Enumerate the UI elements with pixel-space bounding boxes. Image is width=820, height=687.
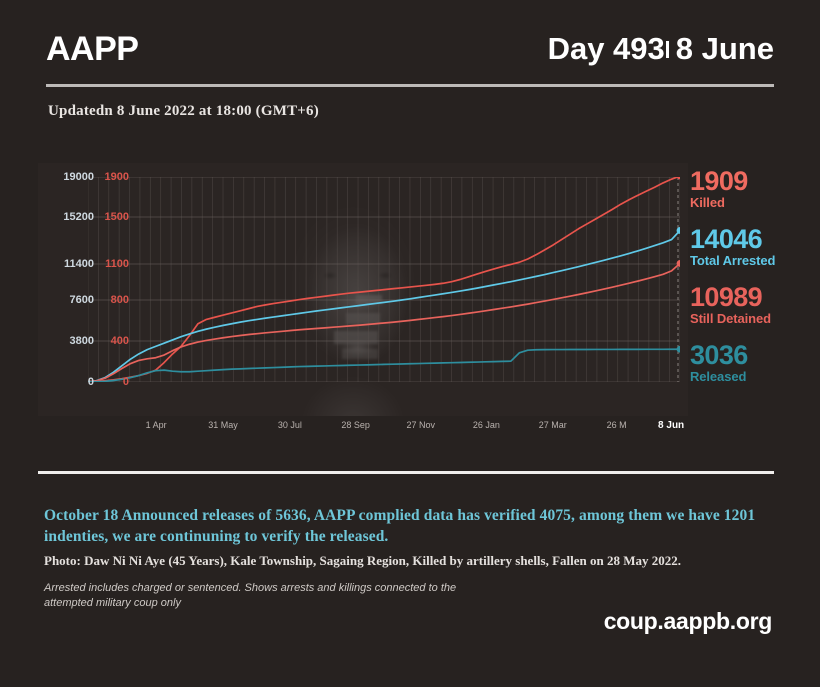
- callout-value-detained: 10989: [690, 284, 771, 311]
- y-tick-killed: 0: [95, 377, 129, 388]
- y-tick-killed: 1900: [95, 172, 129, 183]
- callout-label-killed: Killed: [690, 195, 748, 210]
- callout-label-released: Released: [690, 369, 748, 384]
- y-tick-arrested: 19000: [38, 172, 94, 183]
- header: AAPP Day 4938 June: [46, 28, 774, 90]
- x-tick-label: 26 Jan: [456, 420, 516, 430]
- x-tick-label: 1 Apr: [126, 420, 186, 430]
- callout-value-released: 3036: [690, 342, 748, 369]
- callout-label-arrested: Total Arrested: [690, 253, 775, 268]
- x-tick-label: 8 Jun: [641, 420, 701, 431]
- y-tick-killed: 1500: [95, 212, 129, 223]
- x-tick-label: 28 Sep: [326, 420, 386, 430]
- footer-divider: [38, 471, 774, 474]
- day-date-label: Day 4938 June: [548, 28, 774, 70]
- y-tick-arrested: 11400: [38, 259, 94, 270]
- x-tick-label: 27 Nov: [391, 420, 451, 430]
- callout-value-arrested: 14046: [690, 226, 775, 253]
- photo-credit: Photo: Daw Ni Ni Aye (45 Years), Kale To…: [44, 552, 784, 569]
- day-count-label: Day 493: [548, 31, 665, 66]
- y-tick-arrested: 0: [38, 377, 94, 388]
- x-tick-label: 27 Mar: [523, 420, 583, 430]
- separator-bar: [666, 41, 669, 58]
- callout-value-killed: 1909: [690, 168, 748, 195]
- date-label: 8 June: [676, 31, 774, 66]
- y-tick-arrested: 15200: [38, 212, 94, 223]
- x-tick-label: 26 M: [587, 420, 647, 430]
- y-tick-killed: 400: [95, 336, 129, 347]
- chart-panel: [38, 163, 688, 416]
- y-tick-killed: 1100: [95, 259, 129, 270]
- website-url[interactable]: coup.aappb.org: [604, 608, 772, 635]
- release-note: October 18 Announced releases of 5636, A…: [44, 505, 776, 547]
- y-tick-arrested: 3800: [38, 336, 94, 347]
- methodology-note: Arrested includes charged or sentenced. …: [44, 581, 474, 611]
- chart-svg: [88, 177, 680, 382]
- callout-arrested: 14046Total Arrested: [690, 226, 775, 268]
- callout-label-detained: Still Detained: [690, 311, 771, 326]
- x-tick-label: 31 May: [193, 420, 253, 430]
- page-title: AAPP: [46, 28, 138, 70]
- callout-released: 3036Released: [690, 342, 748, 384]
- callout-killed: 1909Killed: [690, 168, 748, 210]
- poster-root: AAPP Day 4938 June Updatedn 8 June 2022 …: [0, 0, 820, 687]
- y-tick-killed: 800: [95, 295, 129, 306]
- chart-plot-area: [88, 177, 680, 382]
- x-tick-label: 30 Jul: [260, 420, 320, 430]
- updated-timestamp: Updatedn 8 June 2022 at 18:00 (GMT+6): [48, 103, 319, 120]
- callout-detained: 10989Still Detained: [690, 284, 771, 326]
- y-tick-arrested: 7600: [38, 295, 94, 306]
- header-divider: [46, 84, 774, 87]
